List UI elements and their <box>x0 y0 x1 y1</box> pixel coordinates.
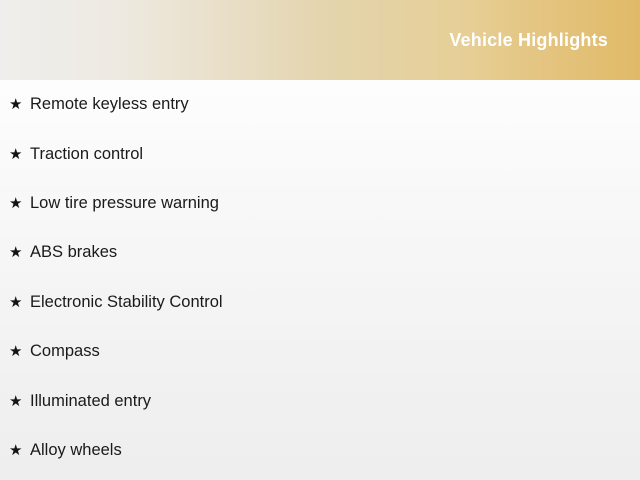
star-icon: ★ <box>9 394 30 409</box>
list-item-label: Illuminated entry <box>30 392 151 411</box>
list-item: ★ Electronic Stability Control <box>0 278 640 327</box>
vehicle-highlights-page: Vehicle Highlights ★ Remote keyless entr… <box>0 0 640 480</box>
list-item-label: Alloy wheels <box>30 441 122 460</box>
list-item-label: ABS brakes <box>30 243 117 262</box>
list-item: ★ Alloy wheels <box>0 426 640 475</box>
list-item: ★ Traction control <box>0 129 640 178</box>
star-icon: ★ <box>9 443 30 458</box>
star-icon: ★ <box>9 147 30 162</box>
star-icon: ★ <box>9 196 30 211</box>
list-item: ★ Remote keyless entry <box>0 80 640 129</box>
list-item-label: Remote keyless entry <box>30 95 189 114</box>
page-title: Vehicle Highlights <box>449 31 608 49</box>
star-icon: ★ <box>9 295 30 310</box>
list-item-label: Low tire pressure warning <box>30 194 219 213</box>
list-item-label: Electronic Stability Control <box>30 293 223 312</box>
star-icon: ★ <box>9 245 30 260</box>
star-icon: ★ <box>9 344 30 359</box>
list-item: ★ ABS brakes <box>0 228 640 277</box>
page-header: Vehicle Highlights <box>0 0 640 80</box>
highlights-list: ★ Remote keyless entry ★ Traction contro… <box>0 80 640 480</box>
list-item: ★ Illuminated entry <box>0 376 640 425</box>
list-item-label: Traction control <box>30 145 143 164</box>
list-item: ★ Compass <box>0 327 640 376</box>
list-item: ★ Low tire pressure warning <box>0 179 640 228</box>
list-item-label: Compass <box>30 342 100 361</box>
star-icon: ★ <box>9 97 30 112</box>
